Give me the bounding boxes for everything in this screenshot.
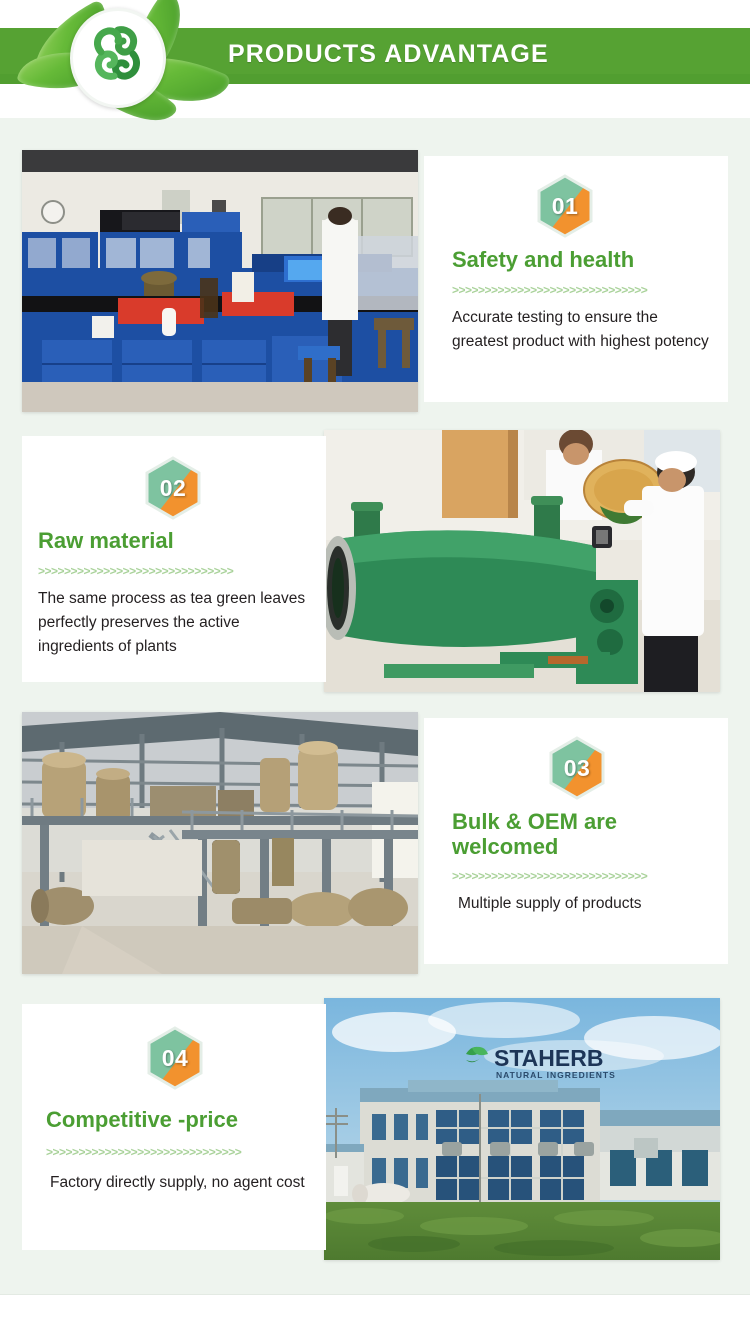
card-description: Factory directly supply, no agent cost — [50, 1171, 306, 1195]
company-building-photo: STAHERB NATURAL INGREDIENTS — [324, 998, 720, 1260]
card-title: Competitive -price — [46, 1108, 326, 1133]
chevron-divider: >>>>>>>>>>>>>>>>>>>>>>>>>>>>>> — [38, 564, 290, 578]
recycle-swirl-icon — [70, 8, 166, 108]
tea-roasting-machine-photo — [324, 430, 720, 692]
advantage-row-3: 03 Bulk & OEM are welcomed >>>>>>>>>>>>>… — [0, 702, 750, 980]
advantage-card-2: 02 Raw material >>>>>>>>>>>>>>>>>>>>>>>>… — [22, 436, 326, 682]
page-title: PRODUCTS ADVANTAGE — [228, 40, 549, 69]
advantage-card-1: 01 Safety and health >>>>>>>>>>>>>>>>>>>… — [424, 156, 728, 402]
chevron-divider: >>>>>>>>>>>>>>>>>>>>>>>>>>>>>> — [452, 869, 700, 883]
page-header: PRODUCTS ADVANTAGE — [0, 0, 750, 118]
advantage-card-4: 04 Competitive -price >>>>>>>>>>>>>>>>>>… — [22, 1004, 326, 1250]
products-advantage-page: PRODUCTS ADVANTAGE — [0, 0, 750, 1326]
step-number-badge: 04 — [146, 1026, 204, 1090]
building-sign-brand: STAHERB — [494, 1045, 603, 1071]
building-sign-tagline: NATURAL INGREDIENTS — [496, 1070, 616, 1080]
step-number-badge: 02 — [144, 456, 202, 520]
chevron-divider: >>>>>>>>>>>>>>>>>>>>>>>>>>>>>> — [46, 1145, 294, 1159]
step-number: 04 — [146, 1026, 204, 1090]
advantage-row-2: 02 Raw material >>>>>>>>>>>>>>>>>>>>>>>>… — [0, 420, 750, 698]
step-number-badge: 01 — [536, 174, 594, 238]
laboratory-testing-photo — [22, 150, 418, 412]
factory-workshop-photo — [22, 712, 418, 974]
advantage-card-3: 03 Bulk & OEM are welcomed >>>>>>>>>>>>>… — [424, 718, 728, 964]
advantage-row-1: 01 Safety and health >>>>>>>>>>>>>>>>>>>… — [0, 140, 750, 418]
card-title: Raw material — [38, 529, 326, 554]
card-title: Safety and health — [452, 248, 728, 273]
card-description: Multiple supply of products — [458, 892, 708, 916]
card-description: Accurate testing to ensure the greatest … — [452, 306, 714, 354]
leaf-recycle-emblem-icon — [18, 0, 228, 118]
page-footer — [0, 1294, 750, 1326]
chevron-divider: >>>>>>>>>>>>>>>>>>>>>>>>>>>>>> — [452, 283, 704, 297]
card-title: Bulk & OEM are welcomed — [452, 810, 682, 859]
step-number: 03 — [548, 736, 606, 800]
step-number: 01 — [536, 174, 594, 238]
step-number-badge: 03 — [548, 736, 606, 800]
advantage-row-4: STAHERB NATURAL INGREDIENTS — [0, 988, 750, 1266]
card-description: The same process as tea green leaves per… — [38, 587, 314, 659]
step-number: 02 — [144, 456, 202, 520]
